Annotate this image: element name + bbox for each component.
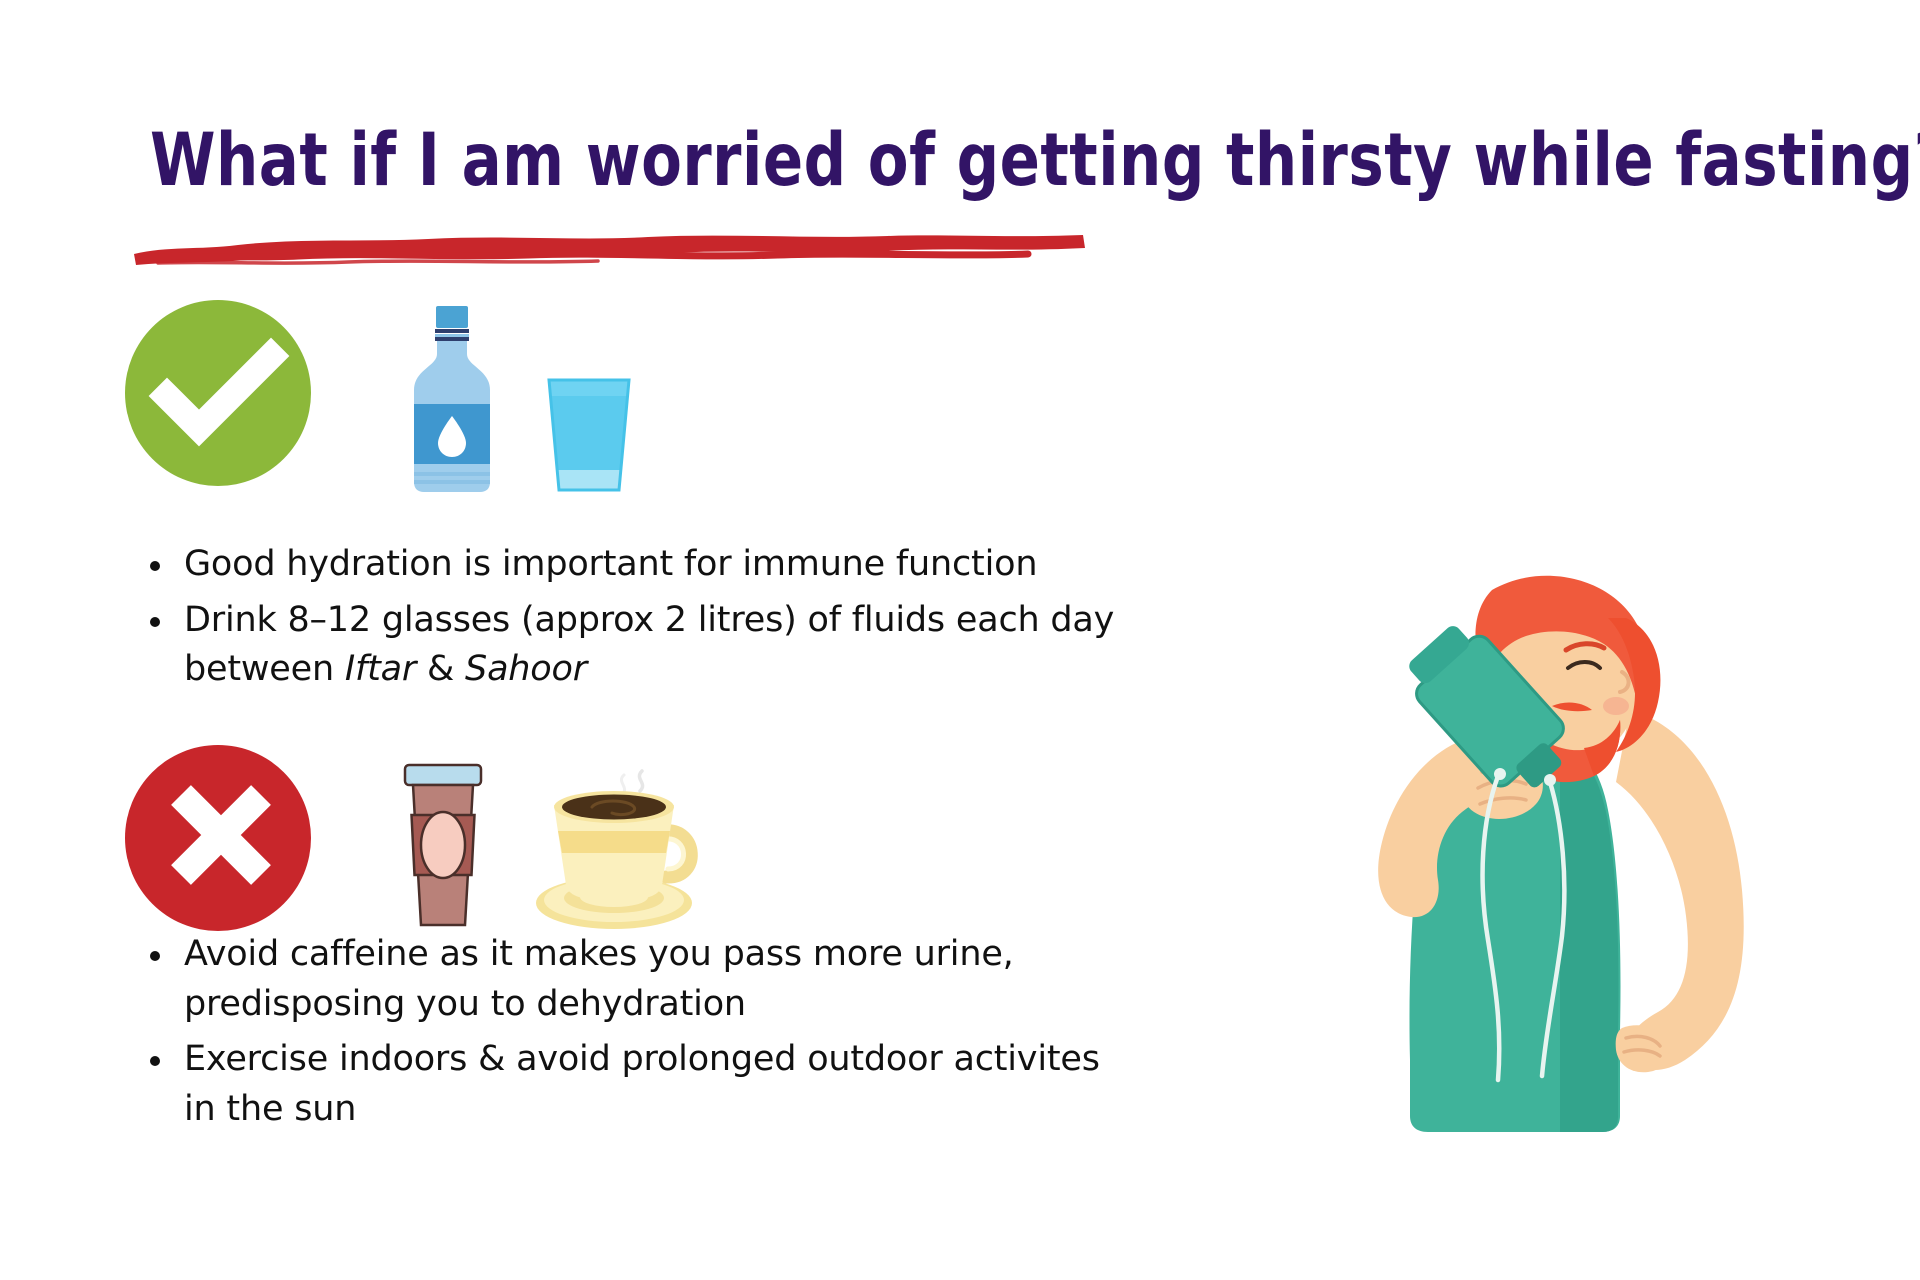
list-item: Good hydration is important for immune f…	[132, 540, 1132, 590]
do-bullet-list: Good hydration is important for immune f…	[132, 540, 1132, 701]
bullet-text-emphasis-iftar: Iftar	[345, 649, 416, 689]
bullet-text-emphasis-sahoor: Sahoor	[465, 649, 587, 689]
list-item: Drink 8–12 glasses (approx 2 litres) of …	[132, 596, 1132, 695]
cross-badge	[125, 745, 311, 931]
takeaway-coffee-cup-icon	[397, 759, 489, 935]
man-drinking-water-illustration	[1230, 560, 1850, 1160]
dont-bullet-list: Avoid caffeine as it makes you pass more…	[132, 930, 1132, 1141]
page-title: What if I am worried of getting thirsty …	[150, 118, 1784, 203]
coffee-cup-saucer-icon	[522, 769, 722, 937]
water-glass-icon	[543, 374, 635, 494]
bullet-text-pre: Drink 8–12 glasses (approx 2 litres) of …	[184, 600, 1114, 690]
bullet-text-mid: &	[416, 649, 465, 689]
title-underline-brushstroke	[128, 232, 1088, 268]
water-bottle-icon	[400, 304, 504, 494]
bullet-text: Exercise indoors & avoid prolonged outdo…	[184, 1039, 1100, 1129]
bullet-text: Avoid caffeine as it makes you pass more…	[184, 934, 1014, 1024]
list-item: Exercise indoors & avoid prolonged outdo…	[132, 1035, 1132, 1134]
bullet-text: Good hydration is important for immune f…	[184, 544, 1037, 584]
infographic-page: What if I am worried of getting thirsty …	[0, 0, 1920, 1280]
check-badge	[125, 300, 311, 486]
list-item: Avoid caffeine as it makes you pass more…	[132, 930, 1132, 1029]
